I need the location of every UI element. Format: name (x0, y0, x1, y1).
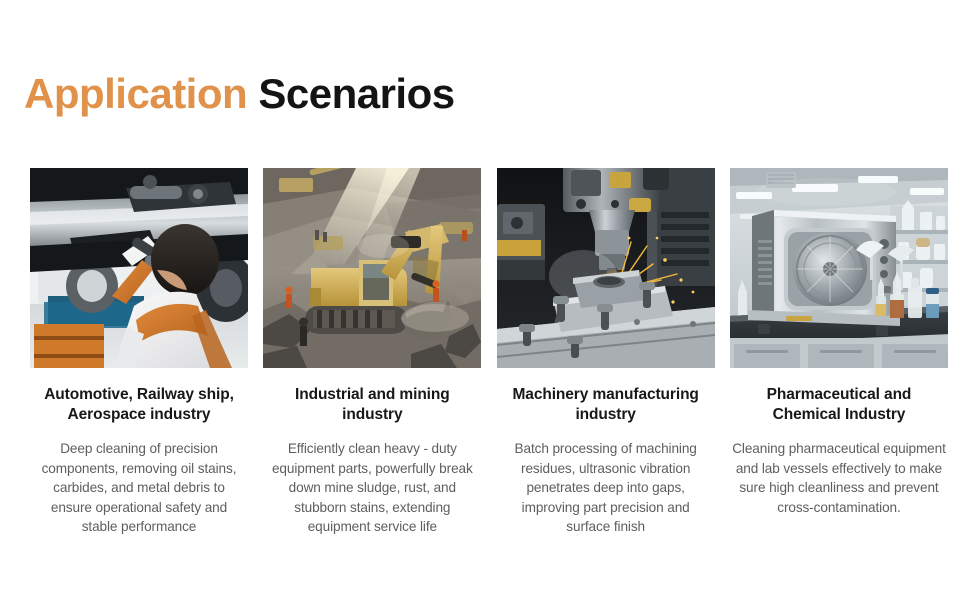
page-title-plain: Scenarios (258, 70, 454, 117)
cnc-milling-sparks-photo (497, 168, 715, 368)
page-title-accent: Application (24, 70, 247, 117)
scenario-card: Pharmaceutical and Chemical Industry Cle… (730, 168, 948, 517)
scenario-card: Automotive, Railway ship, Aerospace indu… (30, 168, 248, 537)
card-description: Efficiently clean heavy - duty equipment… (265, 439, 479, 537)
laboratory-autoclave-sterilizer-photo (730, 168, 948, 368)
card-title: Automotive, Railway ship, Aerospace indu… (33, 385, 245, 425)
scenario-card: Industrial and mining industry Efficient… (263, 168, 481, 537)
page-title: Application Scenarios (24, 68, 455, 120)
card-title: Machinery manufacturing industry (500, 385, 712, 425)
card-title: Pharmaceutical and Chemical Industry (733, 385, 945, 425)
card-title: Industrial and mining industry (266, 385, 478, 425)
card-description: Batch processing of machining residues, … (499, 439, 713, 537)
automotive-underbody-maintenance-photo (30, 168, 248, 368)
card-description: Deep cleaning of precision components, r… (32, 439, 246, 537)
scenario-card: Machinery manufacturing industry Batch p… (497, 168, 715, 537)
application-scenarios-page: Application Scenarios (0, 0, 970, 600)
mining-excavator-quarry-photo (263, 168, 481, 368)
scenario-card-grid: Automotive, Railway ship, Aerospace indu… (30, 168, 948, 537)
card-description: Cleaning pharmaceutical equipment and la… (732, 439, 946, 517)
